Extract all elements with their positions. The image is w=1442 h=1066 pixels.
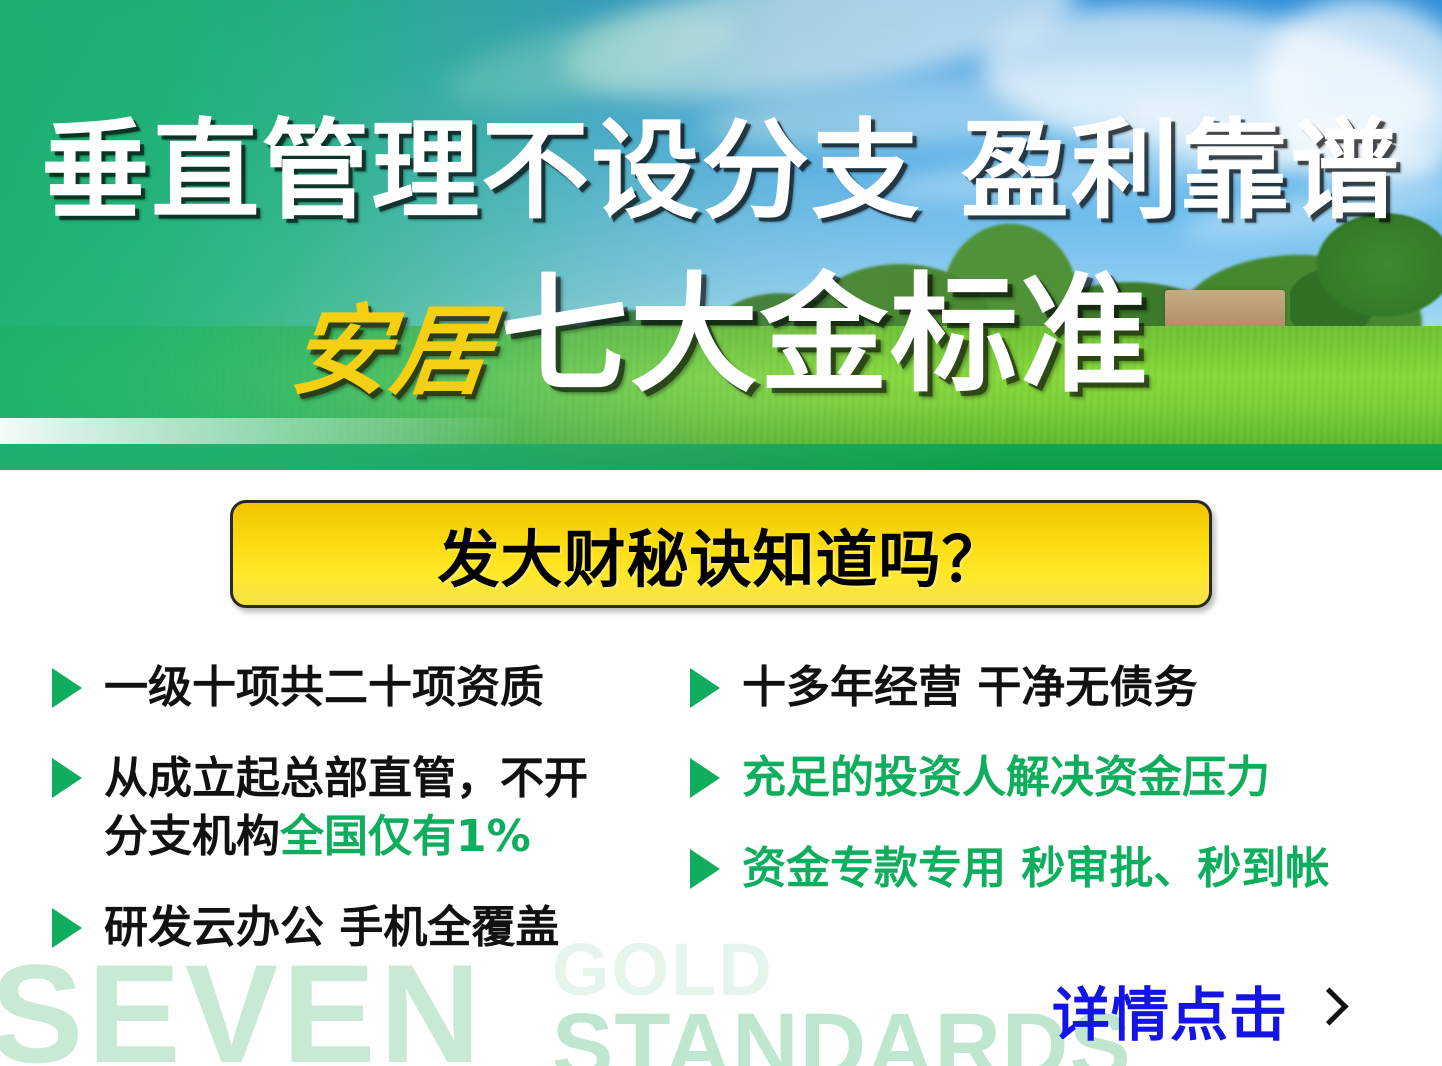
hero-brand-text: 安居 [287, 303, 497, 401]
feature-line: 从成立起总部直管，不开 [104, 753, 588, 804]
triangle-right-icon [690, 758, 720, 798]
hero-headline-line1: 垂直管理不设分支 盈利靠谱 [0, 118, 1442, 226]
feature-text: 资金专款专用 秒审批、秒到帐 [742, 841, 1329, 897]
features-column-right: 十多年经营 干净无债务 充足的投资人解决资金压力 资金专款专用 秒审批、秒到帐 [690, 660, 1402, 931]
hero-section: 垂直管理不设分支 盈利靠谱 安居七大金标准 [0, 0, 1442, 470]
chevron-right-icon [1314, 988, 1340, 1034]
triangle-right-icon [690, 668, 720, 708]
hero-bottom-fade [0, 418, 520, 444]
triangle-right-icon [52, 908, 82, 948]
feature-item: 一级十项共二十项资质 [52, 660, 692, 716]
hero-headline-main-text: 七大金标准 [500, 272, 1150, 400]
triangle-right-icon [52, 758, 82, 798]
feature-item: 资金专款专用 秒审批、秒到帐 [690, 841, 1402, 897]
feature-line: 十多年经营 干净无债务 [742, 662, 1197, 713]
feature-line: 充足的投资人解决资金压力 [742, 752, 1270, 803]
feature-text: 充足的投资人解决资金压力 [742, 750, 1270, 806]
feature-text: 一级十项共二十项资质 [104, 660, 544, 716]
features-column-left: 一级十项共二十项资质 从成立起总部直管，不开 分支机构全国仅有1% 研发云办公 … [52, 660, 692, 991]
question-banner-label: 发大财秘诀知道吗？ [437, 509, 1004, 599]
feature-item: 十多年经营 干净无债务 [690, 660, 1402, 716]
advertisement-banner: 垂直管理不设分支 盈利靠谱 安居七大金标准 SEVEN GOLD STANDAR… [0, 0, 1442, 1066]
feature-line: 一级十项共二十项资质 [104, 662, 544, 713]
triangle-right-icon [52, 668, 82, 708]
question-banner[interactable]: 发大财秘诀知道吗？ [230, 500, 1212, 608]
feature-item: 研发云办公 手机全覆盖 [52, 900, 692, 956]
feature-text: 十多年经营 干净无债务 [742, 660, 1197, 716]
feature-text: 研发云办公 手机全覆盖 [104, 900, 559, 956]
details-cta-button[interactable]: 详情点击 [1052, 968, 1340, 1052]
feature-highlight: 全国仅有1% [280, 811, 531, 862]
feature-line: 资金专款专用 秒审批、秒到帐 [742, 843, 1329, 894]
triangle-right-icon [690, 849, 720, 889]
features-columns: 一级十项共二十项资质 从成立起总部直管，不开 分支机构全国仅有1% 研发云办公 … [0, 660, 1442, 1020]
details-cta-label: 详情点击 [1052, 968, 1288, 1052]
feature-line: 研发云办公 手机全覆盖 [104, 902, 559, 953]
feature-item: 充足的投资人解决资金压力 [690, 750, 1402, 806]
feature-item: 从成立起总部直管，不开 分支机构全国仅有1% [52, 750, 692, 866]
feature-line: 分支机构 [104, 811, 280, 862]
hero-headline-line2: 安居七大金标准 [0, 272, 1442, 401]
feature-text: 从成立起总部直管，不开 分支机构全国仅有1% [104, 750, 588, 866]
